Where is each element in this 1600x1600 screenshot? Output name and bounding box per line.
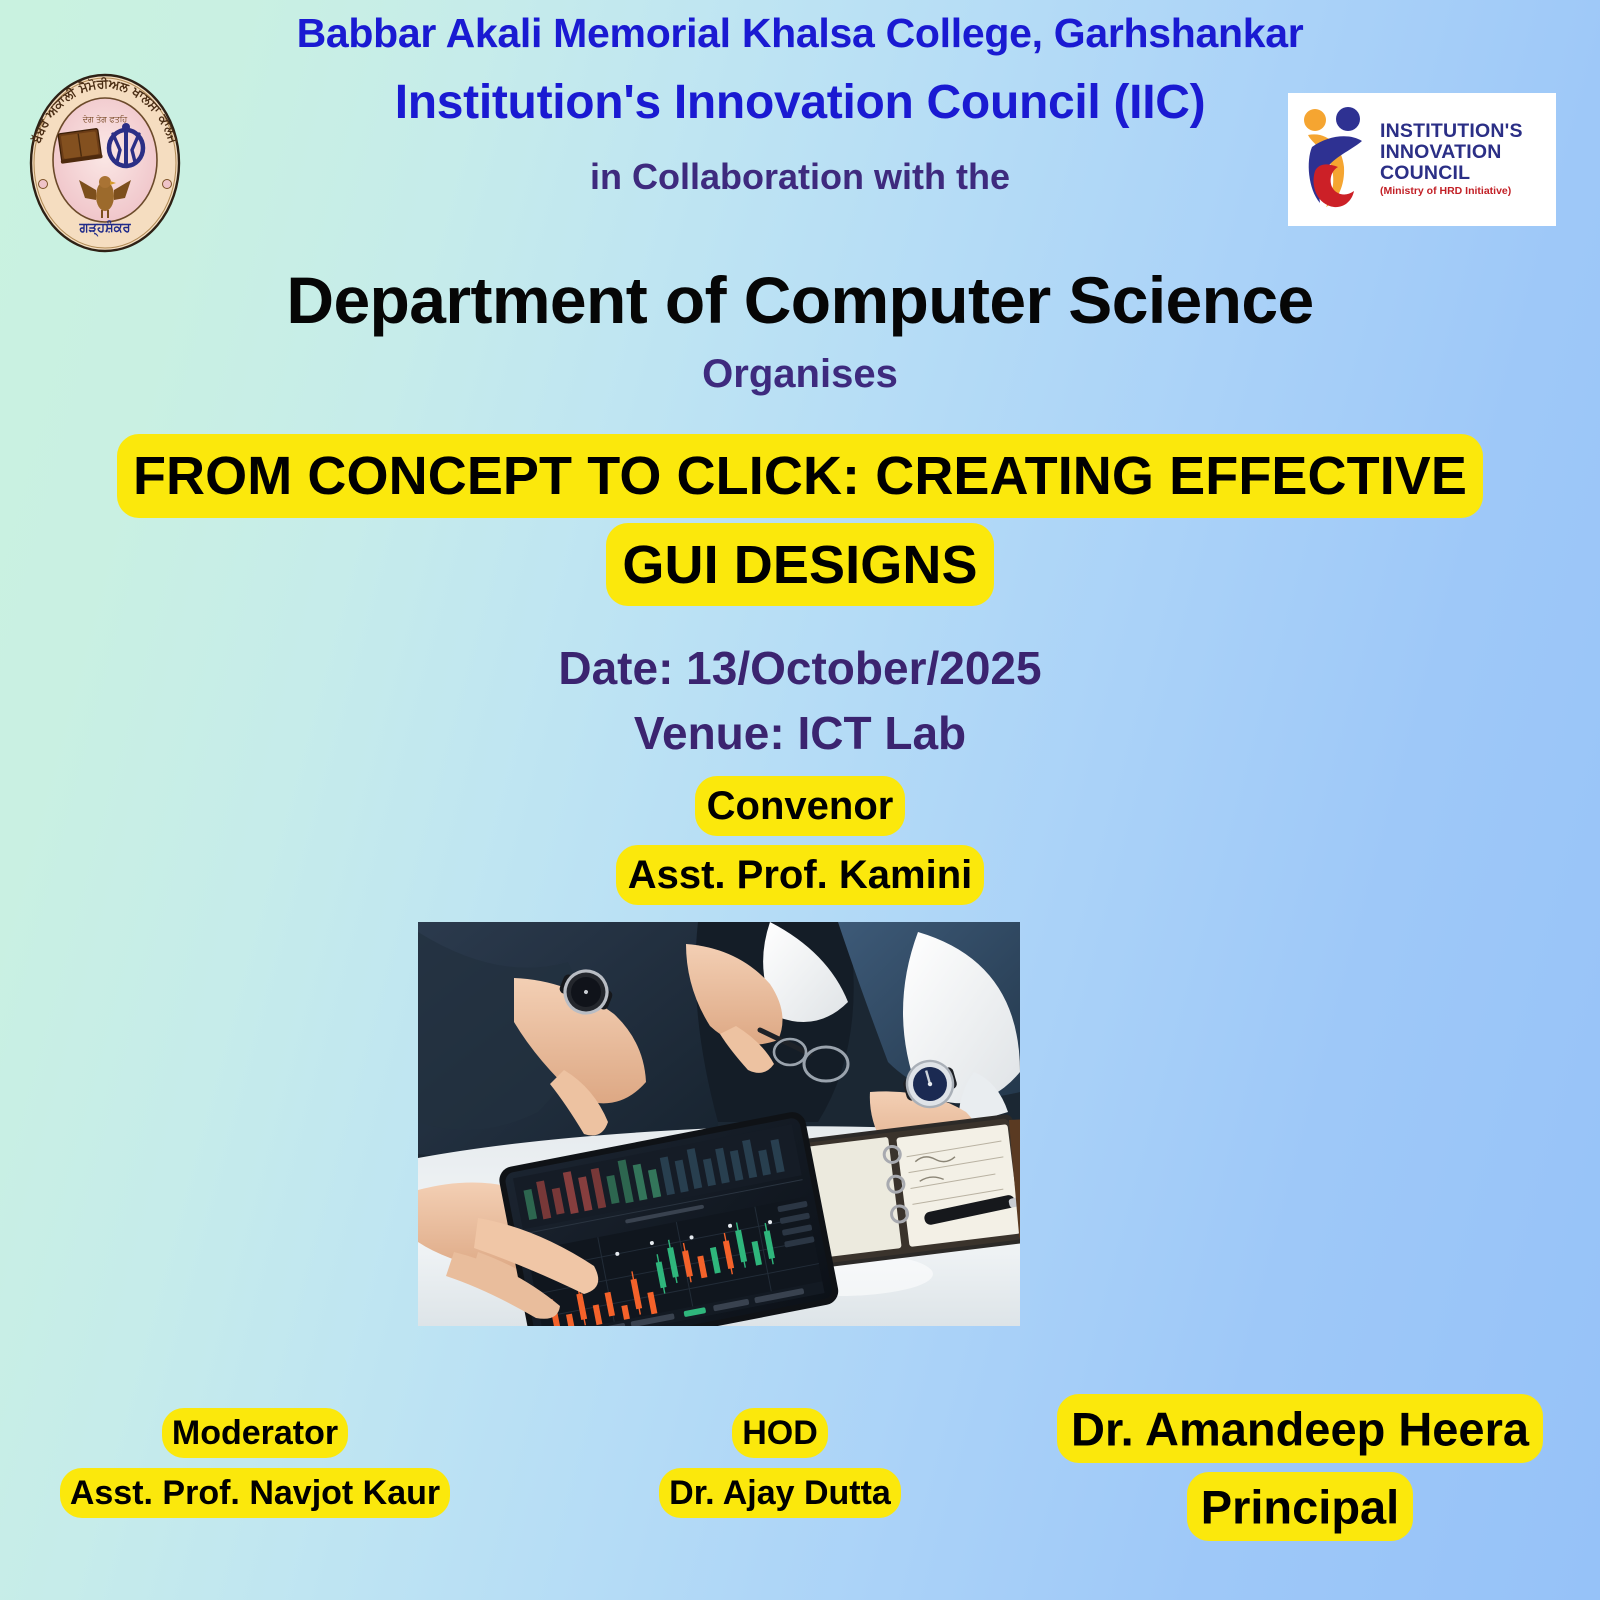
event-venue: Venue: ICT Lab [0,701,1600,766]
event-title: FROM CONCEPT TO CLICK: CREATING EFFECTIV… [68,432,1532,609]
event-title-line-1: FROM CONCEPT TO CLICK: CREATING EFFECTIV… [117,434,1483,518]
hod-role: HOD [732,1408,828,1458]
department-name: Department of Computer Science [0,262,1600,338]
poster-header: Babbar Akali Memorial Khalsa College, Ga… [190,8,1410,203]
moderator-name: Asst. Prof. Navjot Kaur [60,1468,451,1518]
principal-role: Principal [1187,1472,1414,1542]
hod-credit: HOD Dr. Ajay Dutta [590,1404,970,1524]
collaboration-text: in Collaboration with the [190,151,1410,203]
event-date: Date: 13/October/2025 [0,636,1600,701]
iic-council-name: Institution's Innovation Council (IIC) [190,67,1410,139]
moderator-credit: Moderator Asst. Prof. Navjot Kaur [0,1404,510,1524]
organises-label: Organises [0,352,1600,397]
svg-text:ਗੜ੍ਹਸ਼ੰਕਰ: ਗੜ੍ਹਸ਼ੰਕਰ [78,219,131,237]
college-seal-logo: ਬੱਬਰ ਅਕਾਲੀ ਮੈਮੋਰੀਅਲ ਖਾਲਸਾ ਕਾਲਜ ਦੇਗ ਤੇਗ ਫ… [14,72,196,254]
principal-name: Dr. Amandeep Heera [1057,1394,1543,1464]
event-title-line-2: GUI DESIGNS [606,523,994,607]
college-seal-svg: ਬੱਬਰ ਅਕਾਲੀ ਮੈਮੋਰੀਅਲ ਖਾਲਸਾ ਕਾਲਜ ਦੇਗ ਤੇਗ ਫ… [14,72,196,254]
convenor-name: Asst. Prof. Kamini [616,845,985,905]
meeting-tablet-photo [418,922,1020,1326]
convenor-block: Convenor Asst. Prof. Kamini [0,772,1600,910]
principal-credit: Dr. Amandeep Heera Principal [1000,1390,1600,1546]
svg-text:ਦੇਗ ਤੇਗ ਫਤਹਿ: ਦੇਗ ਤੇਗ ਫਤਹਿ [82,115,129,124]
hod-name: Dr. Ajay Dutta [659,1468,901,1518]
meeting-tablet-photo-svg [418,922,1020,1326]
event-details: Date: 13/October/2025 Venue: ICT Lab [0,636,1600,767]
convenor-role: Convenor [695,776,906,836]
college-name: Babbar Akali Memorial Khalsa College, Ga… [190,8,1410,59]
moderator-role: Moderator [162,1408,349,1458]
